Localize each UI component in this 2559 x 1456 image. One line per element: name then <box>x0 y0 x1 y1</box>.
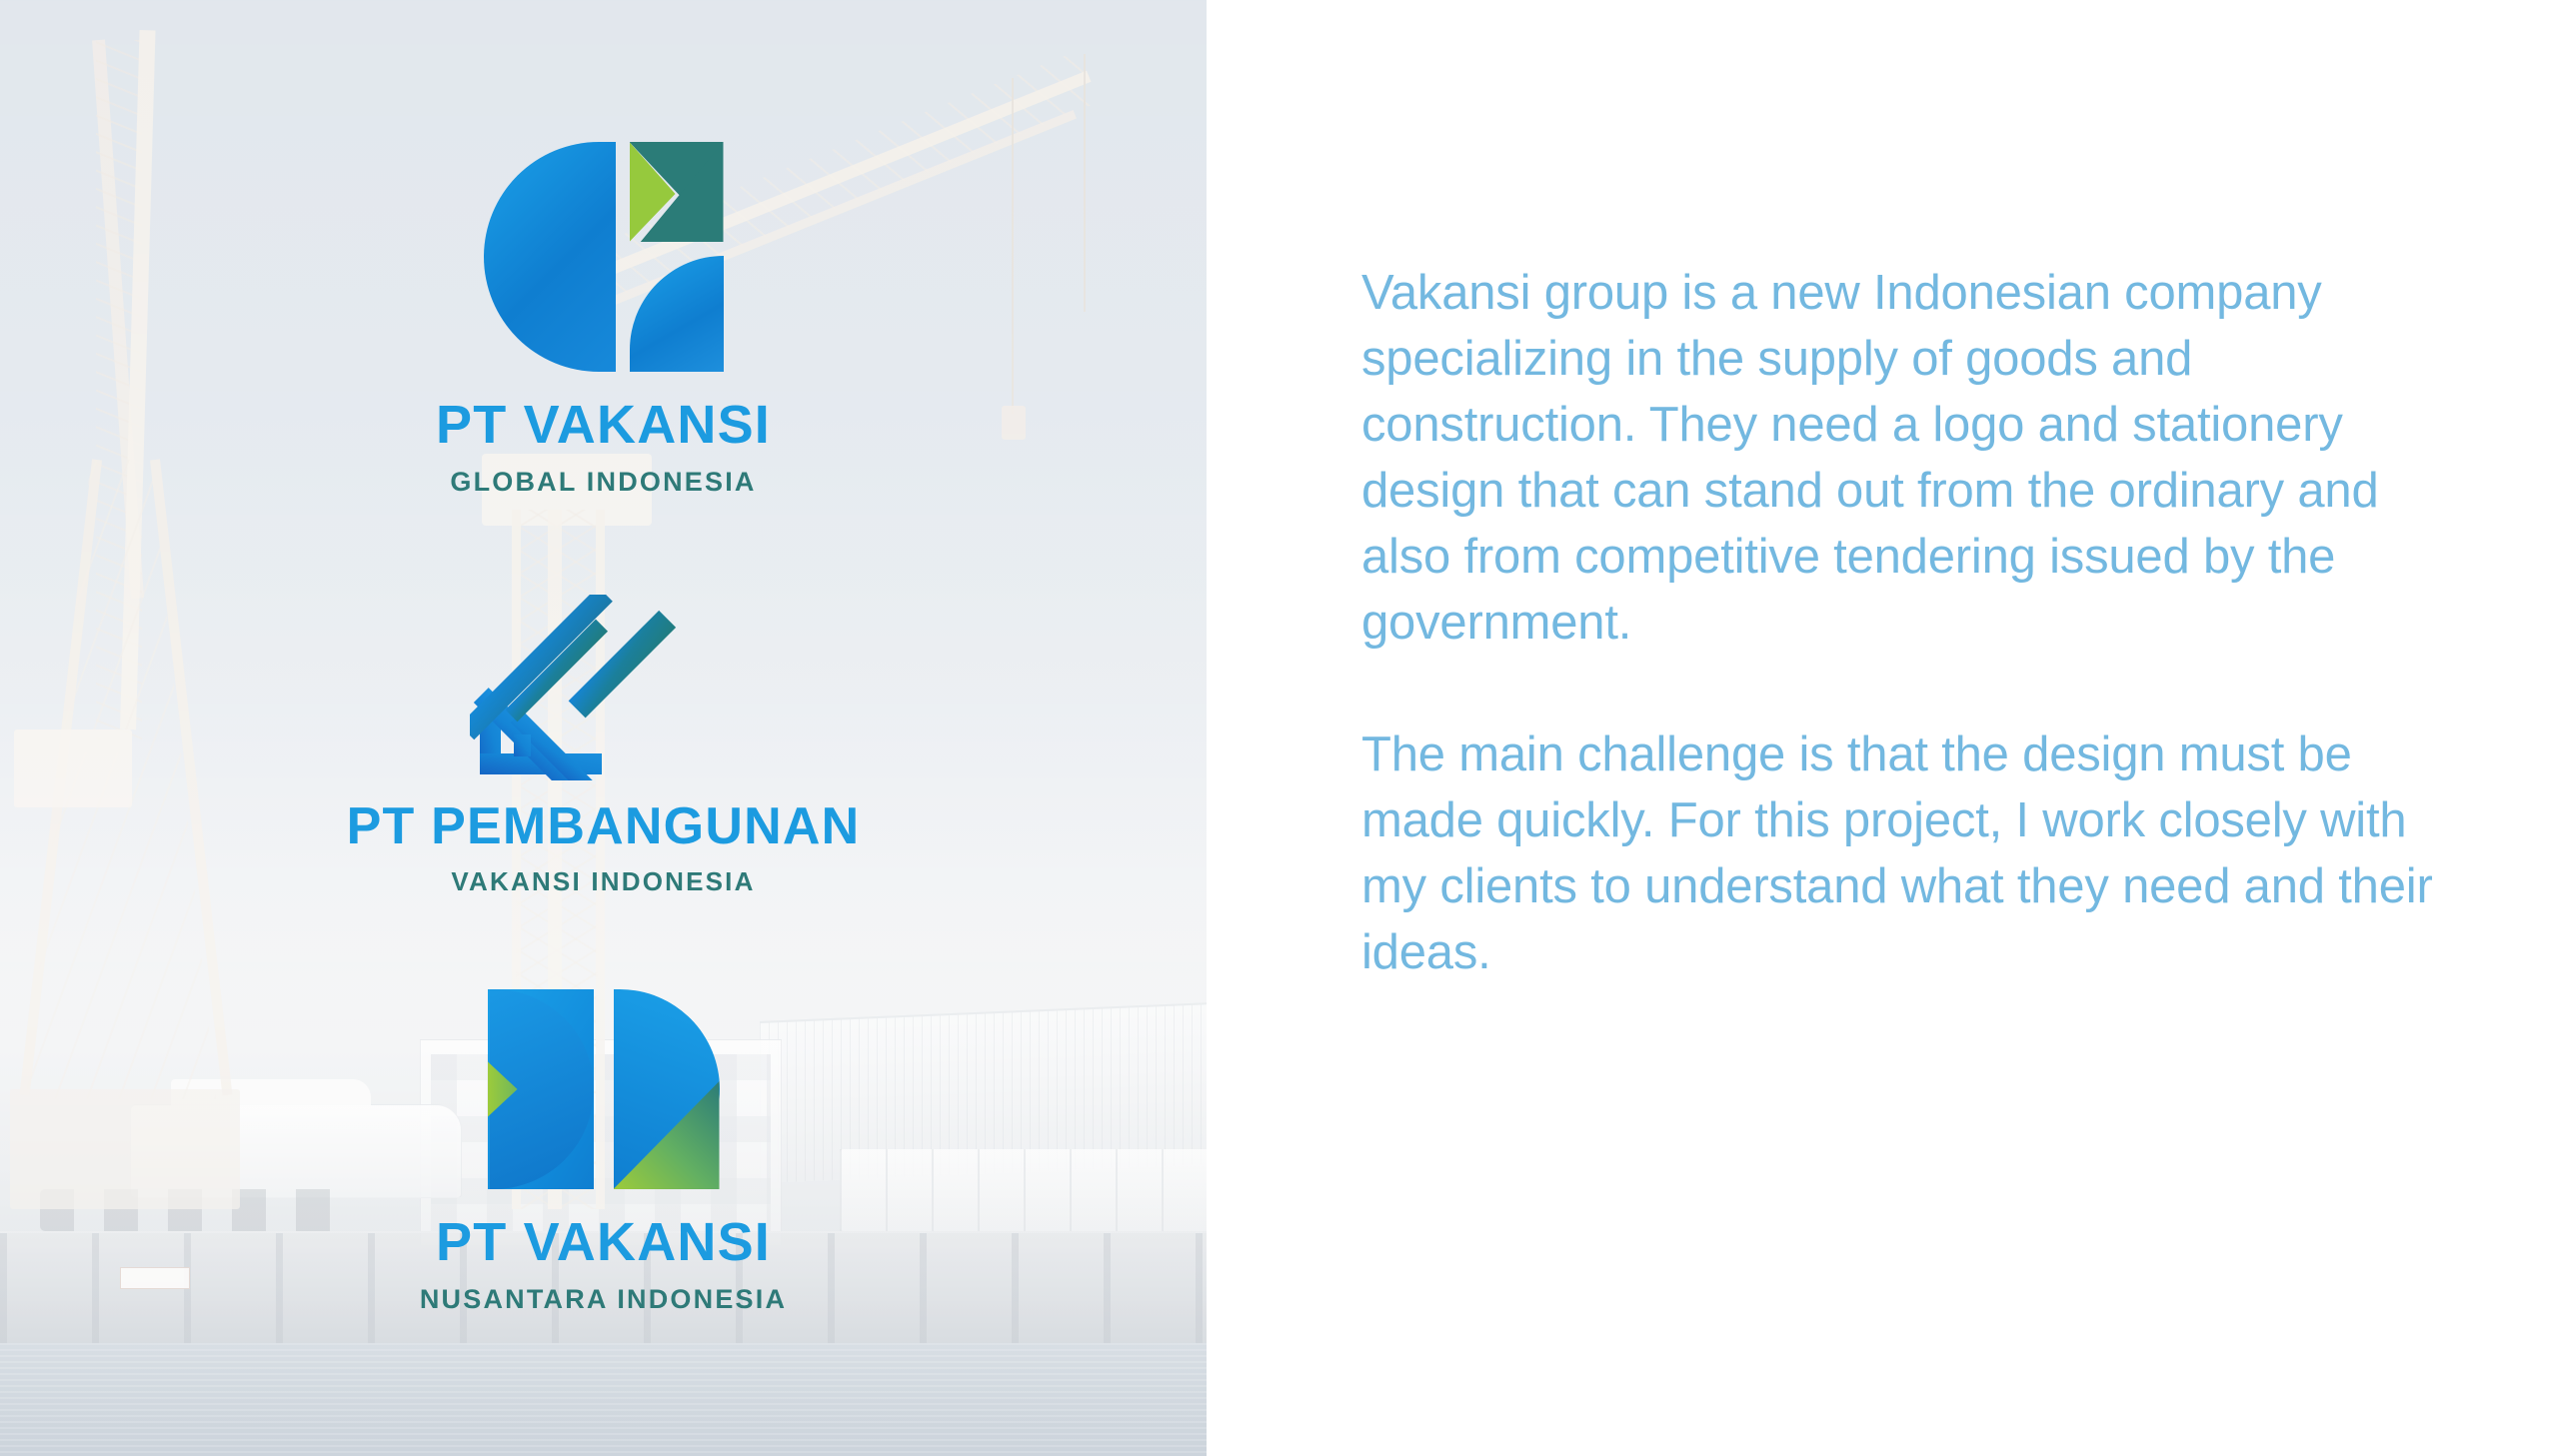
slide: PT VAKANSI GLOBAL INDONESIA <box>0 0 2559 1456</box>
logo-vakansi-nusantara: PT VAKANSI NUSANTARA INDONESIA <box>0 989 1207 1313</box>
mark-left-d <box>488 989 594 1189</box>
logo-vakansi-global: PT VAKANSI GLOBAL INDONESIA <box>0 142 1207 496</box>
image-panel: PT VAKANSI GLOBAL INDONESIA <box>0 0 1207 1456</box>
paragraph-project-brief: Vakansi group is a new Indonesian compan… <box>1361 260 2436 656</box>
logo-pembangunan-vakansi: PT PEMBANGUNAN VAKANSI INDONESIA <box>0 595 1207 894</box>
logo-stack: PT VAKANSI GLOBAL INDONESIA <box>0 0 1207 1456</box>
logo-subtitle: NUSANTARA INDONESIA <box>0 1286 1207 1313</box>
logo-title: PT VAKANSI <box>0 1215 1207 1269</box>
mark-right-block <box>630 142 724 372</box>
pembangunan-house-check-mark <box>470 595 738 780</box>
logo-title: PT PEMBANGUNAN <box>0 800 1207 852</box>
description-copy: Vakansi group is a new Indonesian compan… <box>1361 260 2436 985</box>
vakansi-nusantara-double-d-mark <box>488 989 720 1189</box>
house-check-icon <box>470 595 738 780</box>
mark-right-d <box>614 989 720 1189</box>
logo-subtitle: VAKANSI INDONESIA <box>0 868 1207 894</box>
vakansi-global-mark <box>484 142 724 372</box>
text-panel: Vakansi group is a new Indonesian compan… <box>1207 0 2559 1456</box>
logo-subtitle: GLOBAL INDONESIA <box>0 469 1207 496</box>
logo-title: PT VAKANSI <box>0 398 1207 452</box>
paragraph-challenge: The main challenge is that the design mu… <box>1361 722 2436 985</box>
mark-blue-quarter-circle <box>630 256 724 372</box>
mark-blue-semicircle <box>484 142 616 372</box>
